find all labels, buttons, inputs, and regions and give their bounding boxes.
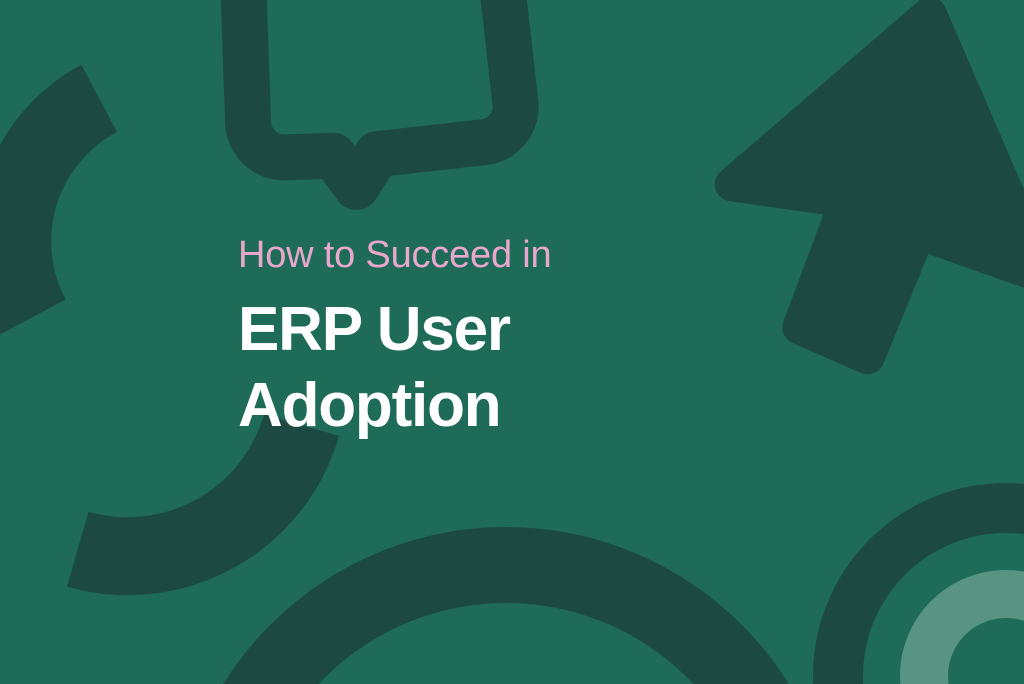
article-hero-banner: How to Succeed in ERP User Adoption xyxy=(0,0,1024,684)
hero-headline-line-2: Adoption xyxy=(238,368,858,444)
hero-eyebrow: How to Succeed in xyxy=(238,236,858,274)
hero-copy-block: How to Succeed in ERP User Adoption xyxy=(238,236,858,443)
hero-headline-line-1: ERP User xyxy=(238,292,858,368)
hero-headline: ERP User Adoption xyxy=(238,292,858,443)
